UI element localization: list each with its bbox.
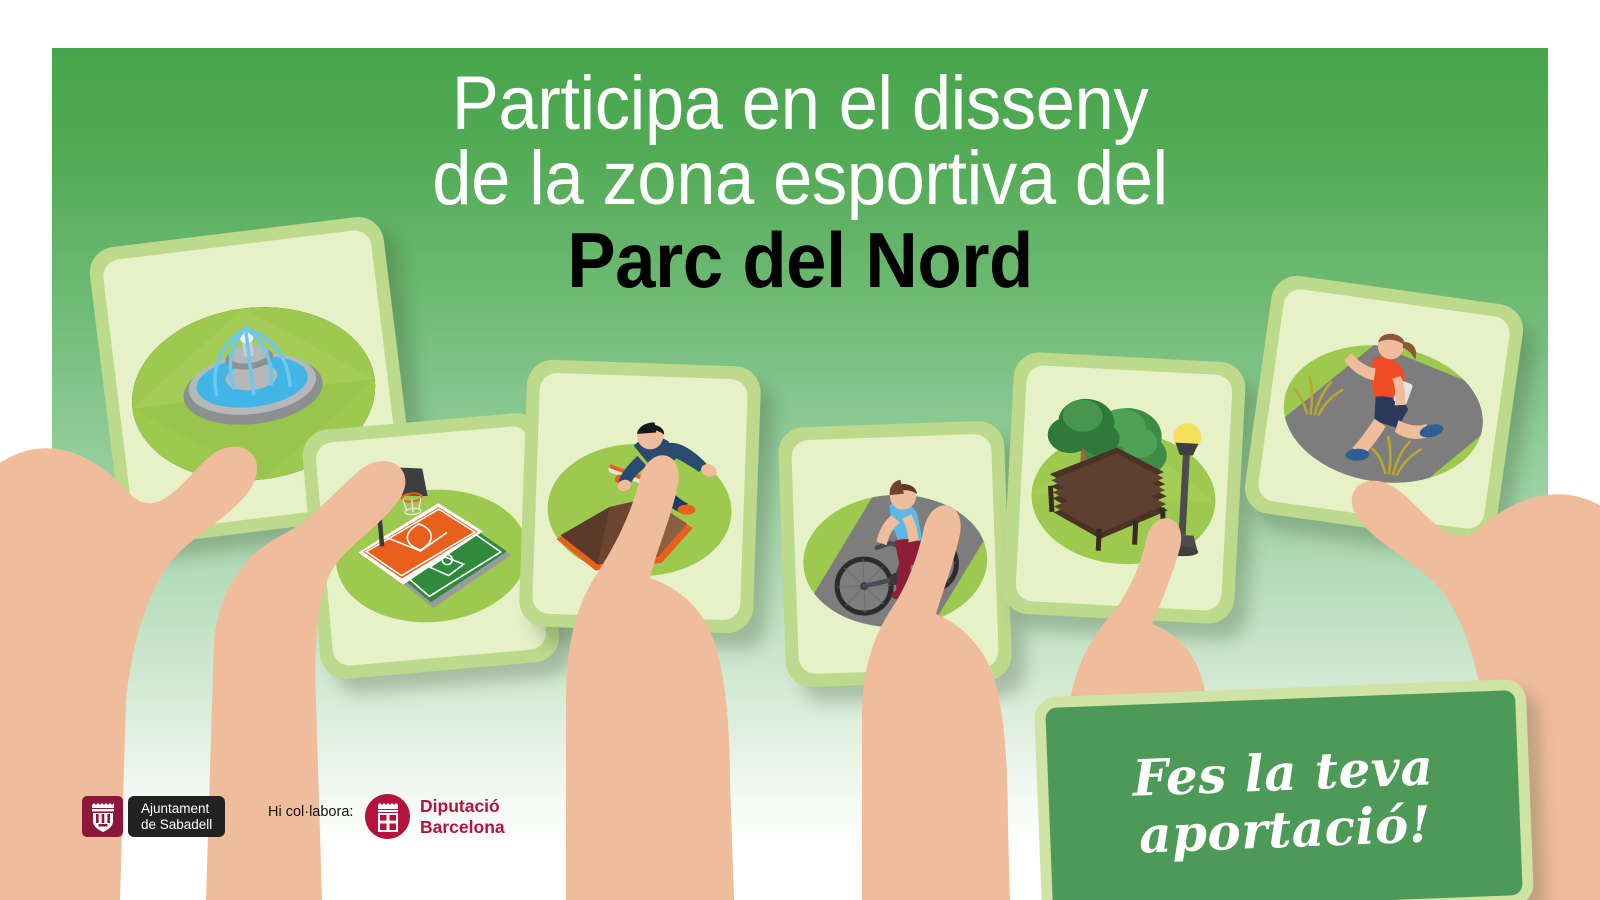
ajuntament-sabadell-logo[interactable]: Ajuntament de Sabadell	[82, 796, 225, 837]
diputacio-line-2: Barcelona	[420, 817, 505, 838]
diputacio-crest-icon	[365, 794, 410, 839]
diputacio-barcelona-logo[interactable]: Diputació Barcelona	[365, 794, 505, 839]
card-cycling-face	[791, 434, 999, 675]
skate-ramp-icon	[532, 372, 748, 620]
card-benchpark[interactable]	[1001, 351, 1246, 625]
card-cycling[interactable]	[778, 420, 1013, 688]
card-benchpark-face	[1015, 365, 1233, 611]
ajuntament-line-2: de Sabadell	[141, 817, 212, 833]
diputacio-line-1: Diputació	[420, 796, 505, 817]
card-running[interactable]	[1242, 272, 1527, 545]
footer-logos: Ajuntament de Sabadell Hi col·labora:	[0, 780, 1600, 870]
running-path-icon	[1256, 287, 1512, 531]
card-sportcourt-face	[315, 425, 548, 667]
sabadell-crest-icon	[82, 796, 123, 837]
ajuntament-line-1: Ajuntament	[141, 801, 212, 817]
banner-canvas: Participa en el disseny de la zona espor…	[0, 0, 1600, 900]
collaborator-label: Hi col·labora:	[268, 804, 353, 820]
ajuntament-sabadell-name: Ajuntament de Sabadell	[128, 796, 225, 837]
card-skatepark-face	[532, 372, 748, 620]
bench-and-trees-icon	[1015, 365, 1233, 611]
sports-court-icon	[315, 425, 548, 667]
card-skatepark[interactable]	[518, 359, 761, 634]
card-running-face	[1256, 287, 1512, 531]
cycling-path-icon	[791, 434, 999, 675]
diputacio-barcelona-name: Diputació Barcelona	[420, 796, 505, 837]
